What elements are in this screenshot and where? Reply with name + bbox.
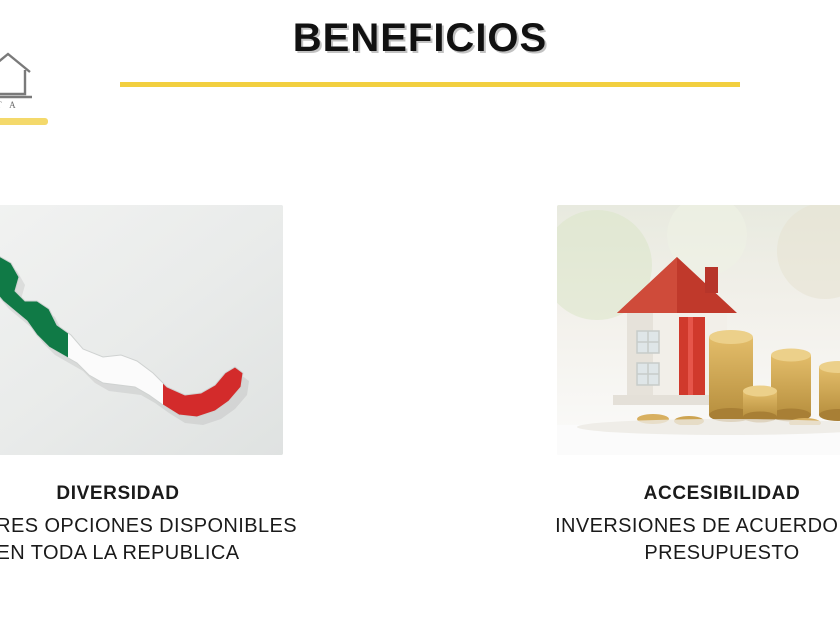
benefit-heading-diversidad: DIVERSIDAD xyxy=(0,483,328,505)
page-title: BENEFICIOS xyxy=(0,16,840,61)
benefit-column-accesibilidad: ACCESIBILIDAD INVERSIONES DE ACUERDO A T… xyxy=(512,205,840,567)
brand-logo-subtext: T A xyxy=(0,100,19,110)
house-with-coin-stacks-photo xyxy=(557,205,840,455)
benefit-column-diversidad: DIVERSIDAD MEJORES OPCIONES DISPONIBLES … xyxy=(0,205,328,567)
mexico-map-flag-illustration xyxy=(0,205,283,455)
benefit-body-accesibilidad: INVERSIONES DE ACUERDO A TU PRESUPUESTO xyxy=(512,513,840,567)
house-and-coins-illustration xyxy=(557,205,840,455)
brand-logo-underline xyxy=(0,118,48,125)
title-underline-rule xyxy=(120,82,740,87)
benefit-heading-accesibilidad: ACCESIBILIDAD xyxy=(512,483,840,505)
benefit-body-diversidad: MEJORES OPCIONES DISPONIBLES EN TODA LA … xyxy=(0,513,328,567)
benefits-columns: DIVERSIDAD MEJORES OPCIONES DISPONIBLES … xyxy=(0,205,840,625)
mexico-map-flag-photo xyxy=(0,205,283,455)
